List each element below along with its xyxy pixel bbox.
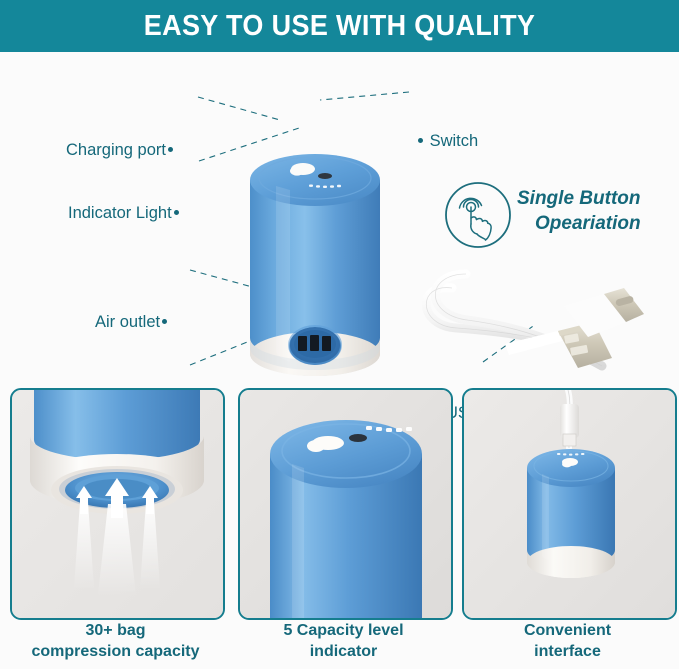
header-banner: EASY TO USE WITH QUALITY xyxy=(0,0,679,52)
callout-switch: Switch xyxy=(416,132,478,151)
feature-panel-interface[interactable] xyxy=(462,388,677,620)
badge-text: Single Button Opeariation xyxy=(517,186,641,236)
callout-dot-icon xyxy=(418,138,423,143)
caption-line-2: indicator xyxy=(238,641,449,662)
caption-line-1: Convenient xyxy=(462,620,673,641)
suction-port-airflow-photo xyxy=(12,390,223,618)
device-charging-cable-photo xyxy=(464,390,675,618)
caption-line-2: interface xyxy=(462,641,673,662)
callout-dot-icon xyxy=(162,319,167,324)
hero-section: Charging port Indicator Light Air outlet… xyxy=(0,52,679,380)
callout-dot-icon xyxy=(168,147,173,152)
single-button-operation-badge: Single Button Opeariation xyxy=(443,180,673,252)
callout-label: Switch xyxy=(430,132,479,150)
caption-line-1: 5 Capacity level xyxy=(238,620,449,641)
device-top-indicator-photo xyxy=(240,390,451,618)
callout-indicator-light: Indicator Light xyxy=(68,204,181,223)
caption-panel-suction: 30+ bag compression capacity xyxy=(10,620,221,662)
product-device-image xyxy=(236,140,394,398)
callout-charging-port: Charging port xyxy=(66,141,175,160)
tap-hand-icon xyxy=(443,180,513,250)
caption-panel-interface: Convenient interface xyxy=(462,620,673,662)
caption-panel-indicator: 5 Capacity level indicator xyxy=(238,620,449,662)
callout-label: Air outlet xyxy=(95,313,160,331)
feature-panel-suction[interactable] xyxy=(10,388,225,620)
page-title: EASY TO USE WITH QUALITY xyxy=(144,10,536,43)
callout-label: Charging port xyxy=(66,141,166,159)
feature-panels: 30+ bag compression capacity xyxy=(0,388,679,669)
caption-line-1: 30+ bag xyxy=(10,620,221,641)
callout-label: Indicator Light xyxy=(68,204,172,222)
badge-line-2: Opeariation xyxy=(517,211,641,236)
caption-line-2: compression capacity xyxy=(10,641,221,662)
callout-dot-icon xyxy=(174,210,179,215)
callout-air-outlet: Air outlet xyxy=(95,313,169,332)
feature-panel-indicator[interactable] xyxy=(238,388,453,620)
usb-cable-image xyxy=(412,248,647,403)
badge-line-1: Single Button xyxy=(517,188,640,209)
infographic-page: EASY TO USE WITH QUALITY xyxy=(0,0,679,669)
